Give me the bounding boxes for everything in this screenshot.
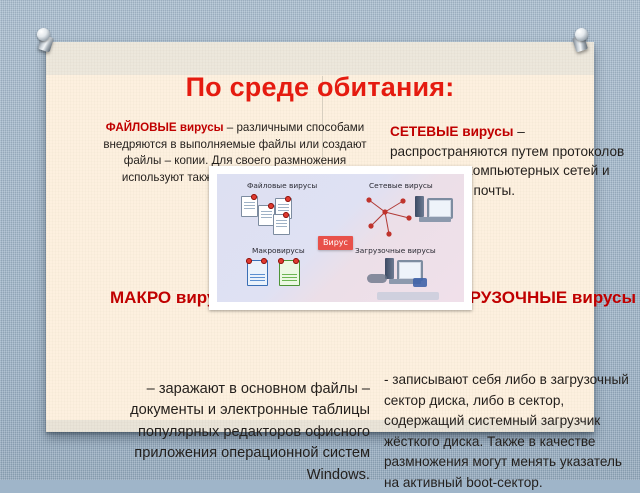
- page-title: По среде обитания:: [46, 70, 594, 104]
- virus-classification-diagram: Файловые вирусы Сетевые вирусы Макровиру…: [209, 166, 472, 310]
- diagram-label-macro-viruses: Макровирусы: [252, 246, 305, 255]
- diagram-shadow: [377, 292, 439, 300]
- file-viruses-lead: ФАЙЛОВЫЕ вирусы: [106, 121, 224, 134]
- bug-icon: [261, 258, 267, 264]
- quadrant-macro-viruses: МАКРО вирусы – заражают в основном файлы…: [100, 287, 370, 486]
- bug-icon: [251, 194, 257, 200]
- network-viruses-lead: СЕТЕВЫЕ вирусы: [390, 124, 513, 139]
- diagram-canvas: Файловые вирусы Сетевые вирусы Макровиру…: [217, 174, 464, 302]
- pinned-board: По среде обитания: ФАЙЛОВЫЕ вирусы – раз…: [46, 42, 594, 432]
- diagram-label-boot-viruses: Загрузочные вирусы: [355, 246, 436, 255]
- bug-icon: [268, 203, 274, 209]
- bug-icon: [246, 258, 252, 264]
- diagram-label-file-viruses: Файловые вирусы: [247, 181, 317, 190]
- floppy-disk-icon: [413, 278, 427, 287]
- diagram-label-network-viruses: Сетевые вирусы: [369, 181, 433, 190]
- mouse-icon: [367, 274, 387, 283]
- quadrant-boot-viruses: ЗАГРУЗОЧНЫЕ вирусы - записывают себя либ…: [384, 287, 636, 493]
- bug-icon: [285, 196, 291, 202]
- excel-document-icon: [279, 260, 300, 286]
- bug-icon: [283, 212, 289, 218]
- push-pin-icon-left: [33, 28, 59, 54]
- boot-viruses-body: - записывают себя либо в загрузочный сек…: [384, 370, 636, 493]
- macro-viruses-body: – заражают в основном файлы – документы …: [100, 379, 370, 487]
- diagram-center-virus-badge: Вирус: [318, 236, 353, 250]
- bug-icon: [293, 258, 299, 264]
- word-document-icon: [247, 260, 268, 286]
- bug-icon: [278, 258, 284, 264]
- push-pin-icon-right: [566, 28, 592, 54]
